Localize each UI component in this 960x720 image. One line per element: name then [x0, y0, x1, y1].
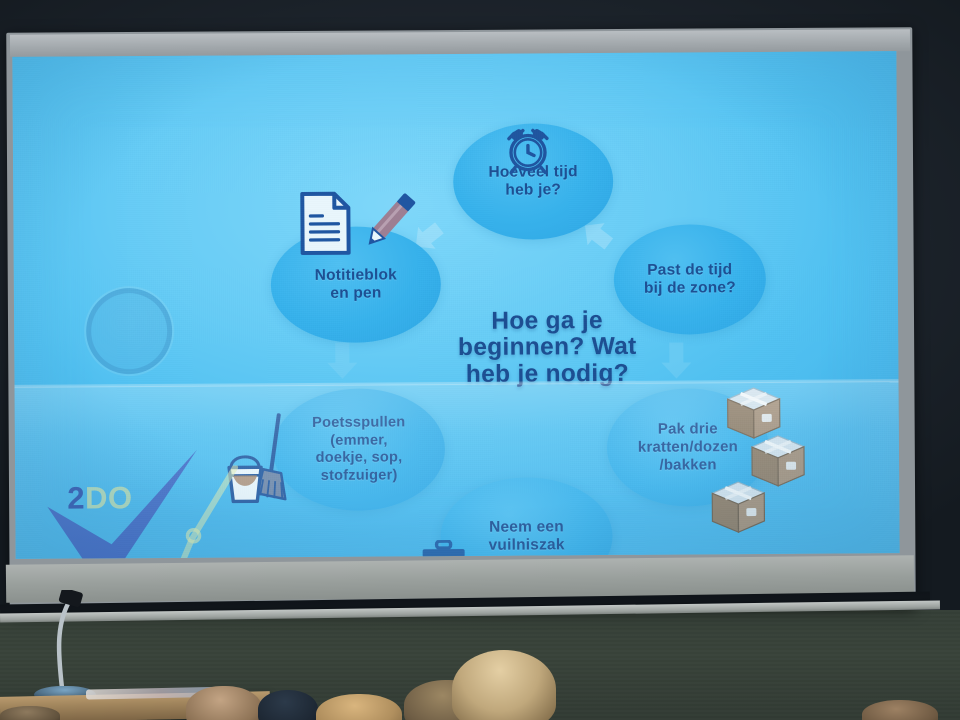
logo-text: 2DO [67, 480, 132, 516]
lecture-room-photo: Hoeveel tijd heb je? Past de tijd bij de… [0, 0, 960, 720]
slide-heading: Hoe ga je beginnen? Wat heb je nodig? [422, 308, 673, 389]
audience-head [862, 700, 938, 720]
bubble-label: Past de tijd bij de zone? [644, 261, 736, 297]
audience-head [186, 686, 262, 720]
bubble-label: Notitieblok en pen [315, 267, 398, 303]
logo-text-do: DO [85, 480, 133, 515]
audience-head [0, 706, 60, 720]
circle-emblem-icon [86, 288, 173, 375]
logo-swoosh-icon [131, 465, 252, 559]
audience-head [258, 690, 318, 720]
document-icon [296, 191, 356, 257]
audience-head [452, 650, 556, 720]
projected-slide: Hoeveel tijd heb je? Past de tijd bij de… [12, 51, 899, 559]
box-icon [710, 480, 766, 536]
alarm-clock-icon [500, 121, 556, 175]
gooseneck-microphone-icon [52, 590, 78, 700]
cardboard-boxes-icon [710, 386, 811, 539]
logo-2do: 2DO [45, 447, 256, 559]
logo-text-2: 2 [67, 480, 85, 515]
pencil-icon [356, 187, 422, 253]
arrow-note-to-clean-icon [325, 341, 359, 381]
bubble-label: Neem een vuilniszak [488, 519, 564, 555]
bubble-label: Poetsspullen (emmer, doekje, sop, stofzu… [312, 414, 406, 485]
